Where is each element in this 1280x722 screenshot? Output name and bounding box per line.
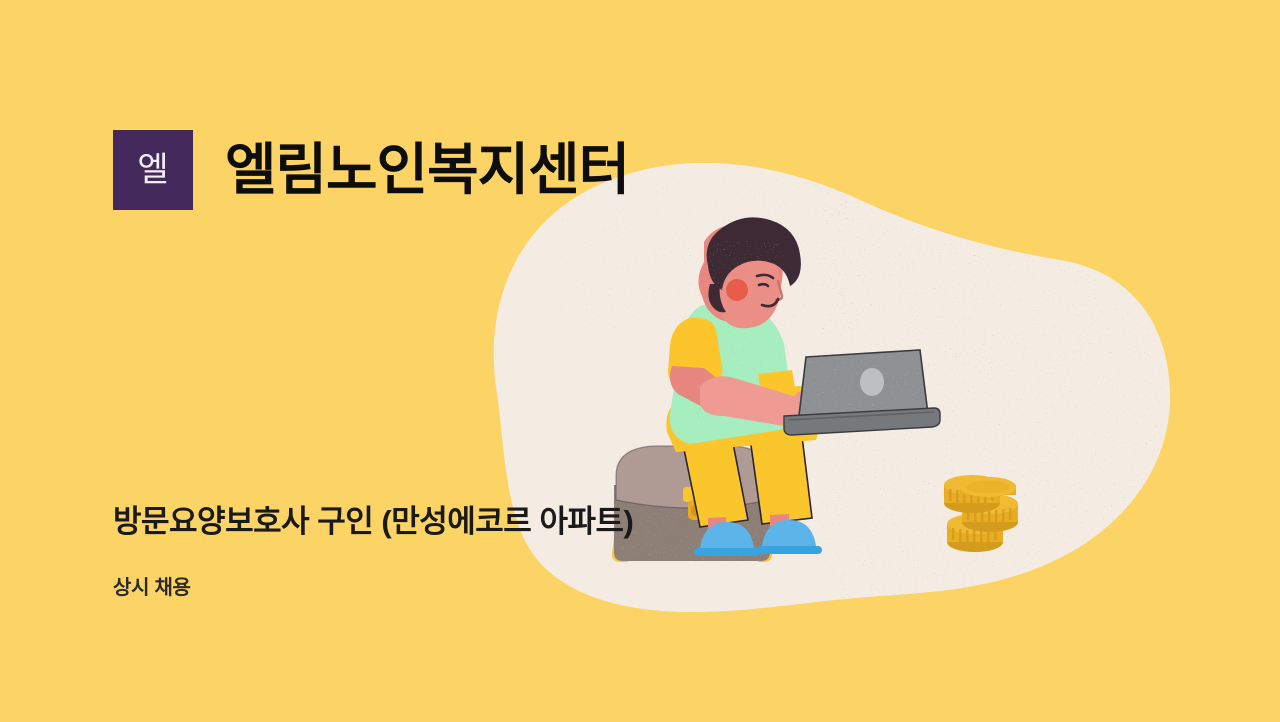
job-posting-banner: 엘 엘림노인복지센터 방문요양보호사 구인 (만성에코르 아파트) 상시 채용 xyxy=(0,0,1280,722)
company-logo-initial: 엘 xyxy=(137,153,168,187)
hiring-type-label: 상시 채용 xyxy=(113,571,191,600)
company-name: 엘림노인복지센터 xyxy=(225,142,629,198)
job-title-container: 방문요양보호사 구인 (만성에코르 아파트) xyxy=(113,500,693,544)
company-header: 엘 엘림노인복지센터 xyxy=(113,130,629,210)
company-logo-badge: 엘 xyxy=(113,130,193,210)
text-content: 엘 엘림노인복지센터 방문요양보호사 구인 (만성에코르 아파트) 상시 채용 xyxy=(0,0,1280,722)
page-title: 방문요양보호사 구인 (만성에코르 아파트) xyxy=(113,500,693,544)
